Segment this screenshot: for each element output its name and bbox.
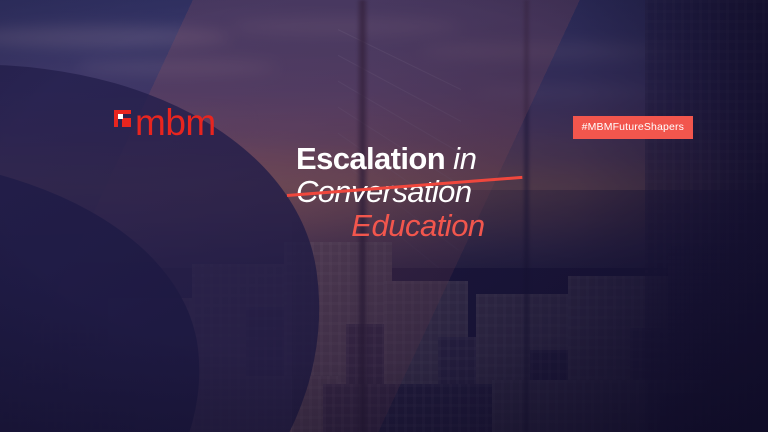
headline-line-2: Conversation [296,176,556,208]
headline-word-escalation: Escalation [296,141,445,176]
mbm-bracket-mark-icon [114,110,131,127]
mbm-logo: mbm [114,108,216,138]
logo-wordmark: mbm [135,108,216,138]
headline-line-3: Education [296,210,556,242]
headline-line-1: Escalation in [296,143,556,175]
title-slide: mbm #MBMFutureShapers Escalation in Conv… [0,0,768,432]
headline-block: Escalation in Conversation Education [296,143,556,242]
hashtag-badge: #MBMFutureShapers [573,116,693,139]
headline-word-in: in [453,141,477,176]
